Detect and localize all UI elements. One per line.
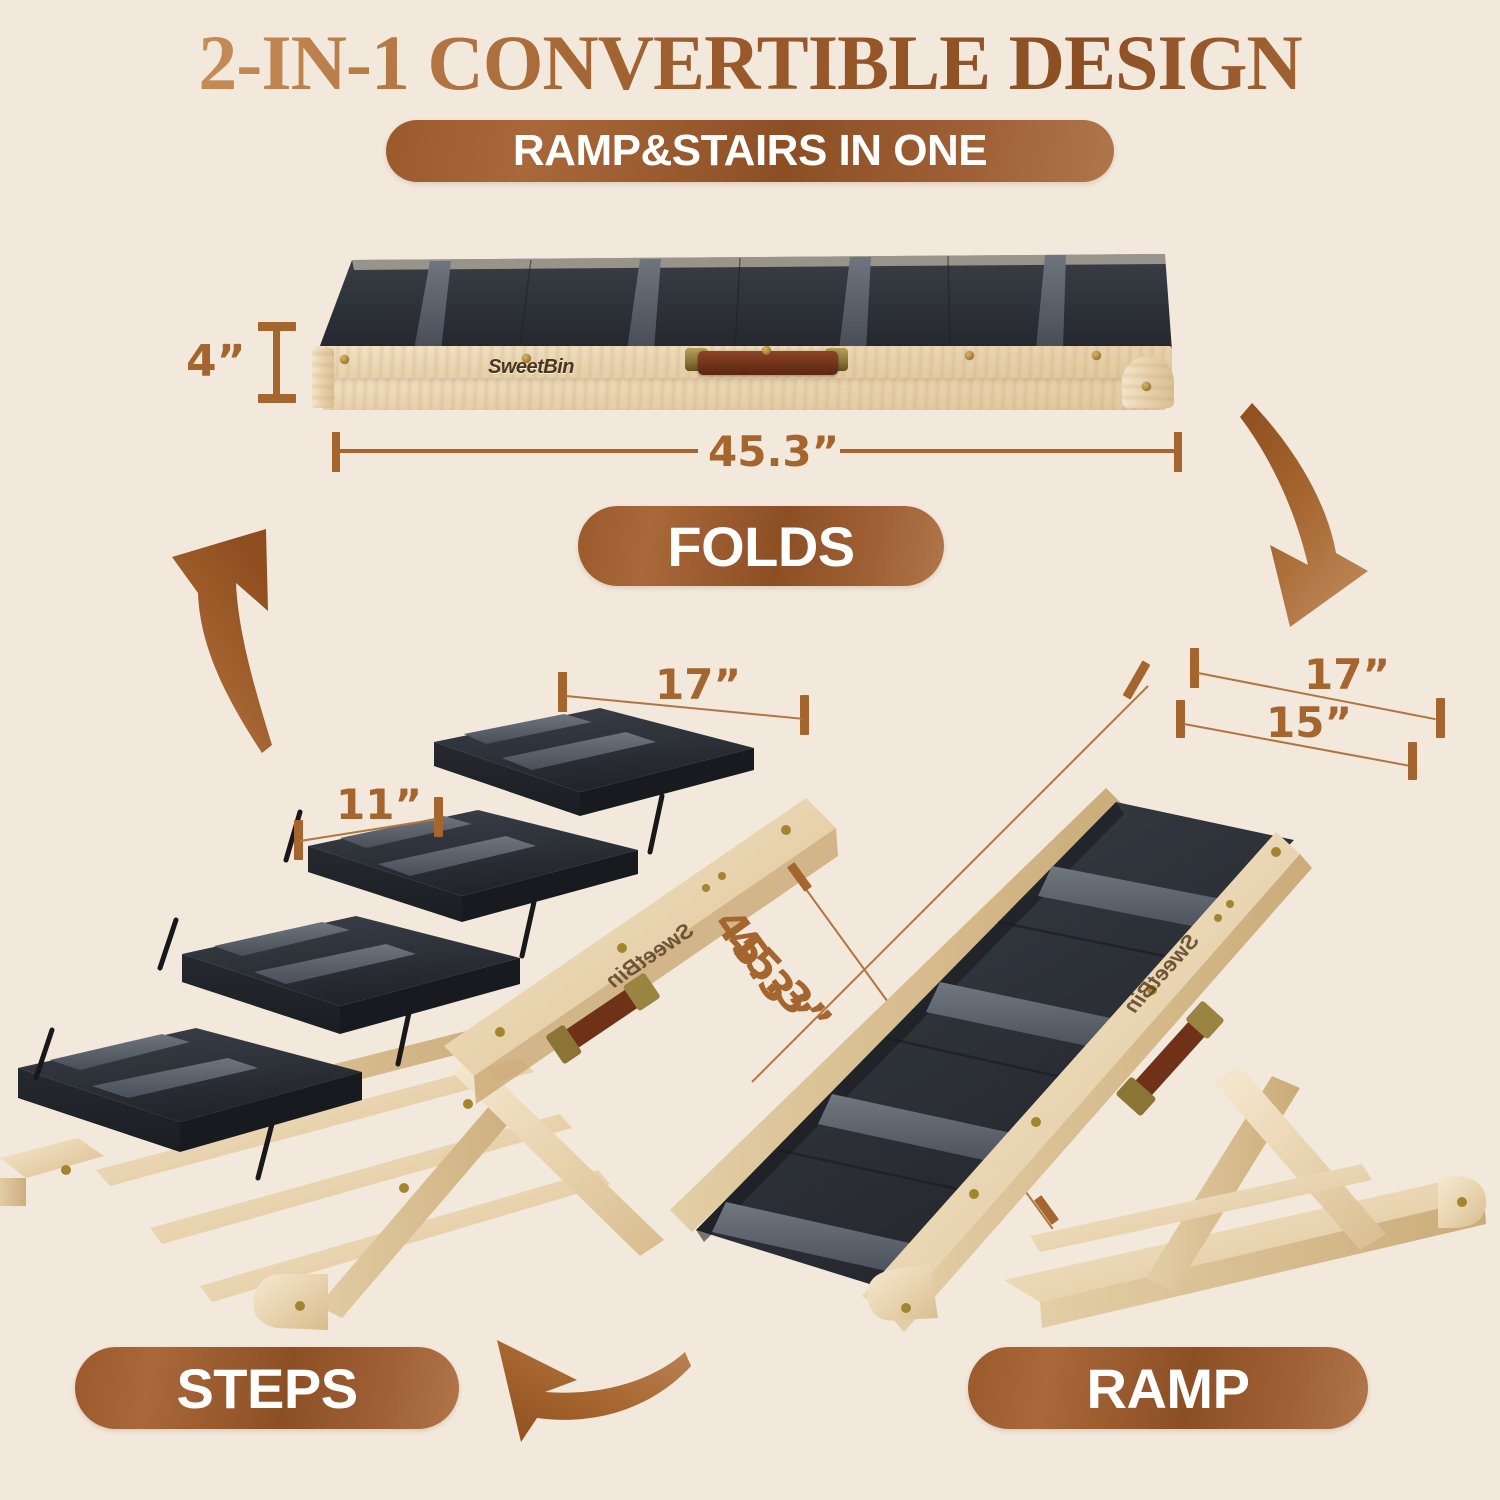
- product-infographic: 2-IN-1 CONVERTIBLE DESIGN RAMP&STAIRS IN…: [0, 0, 1500, 1500]
- ramp-product-image: SweetBin: [600, 690, 1500, 1350]
- ramp-badge-text: RAMP: [1087, 1356, 1250, 1421]
- ramp-17-tick-right: [1436, 698, 1445, 738]
- length-dim-line-right: [840, 449, 1176, 453]
- steps-11-tick-right: [434, 797, 443, 837]
- folded-left-end-cap: [312, 348, 334, 408]
- steps-17-tick-left: [558, 672, 567, 712]
- folds-badge-text: FOLDS: [667, 514, 854, 579]
- height-dim-cap-bottom: [258, 394, 296, 403]
- steps-badge: STEPS: [75, 1347, 459, 1429]
- ramp-17-tick-left: [1190, 648, 1199, 688]
- ramp-badge: RAMP: [968, 1347, 1368, 1429]
- curved-arrow-down-right-icon: [1218, 385, 1398, 655]
- folded-height-label: 4”: [186, 336, 246, 387]
- handle-screw: [762, 346, 771, 355]
- hinge-pivot-screw: [1142, 382, 1151, 391]
- folded-wood-lower-rail: [322, 378, 1167, 410]
- folds-badge: FOLDS: [578, 506, 944, 586]
- steps-badge-text: STEPS: [176, 1356, 357, 1421]
- ramp-outer-width-label: 17”: [1304, 650, 1390, 699]
- frame-screw: [1092, 351, 1101, 360]
- ramp-15-tick-right: [1408, 742, 1417, 780]
- length-dim-line-left: [338, 449, 698, 453]
- folded-length-label: 45.3”: [708, 427, 839, 476]
- frame-screw: [340, 355, 349, 364]
- height-dim-line: [273, 329, 280, 397]
- frame-screw: [965, 351, 974, 360]
- brand-logo: SweetBin: [488, 356, 574, 379]
- subtitle-text: RAMP&STAIRS IN ONE: [513, 126, 987, 176]
- folded-product-image: SweetBin: [310, 248, 1180, 408]
- ramp-15-tick-left: [1176, 700, 1185, 738]
- page-title: 2-IN-1 CONVERTIBLE DESIGN: [0, 18, 1500, 108]
- subtitle-badge: RAMP&STAIRS IN ONE: [386, 120, 1114, 182]
